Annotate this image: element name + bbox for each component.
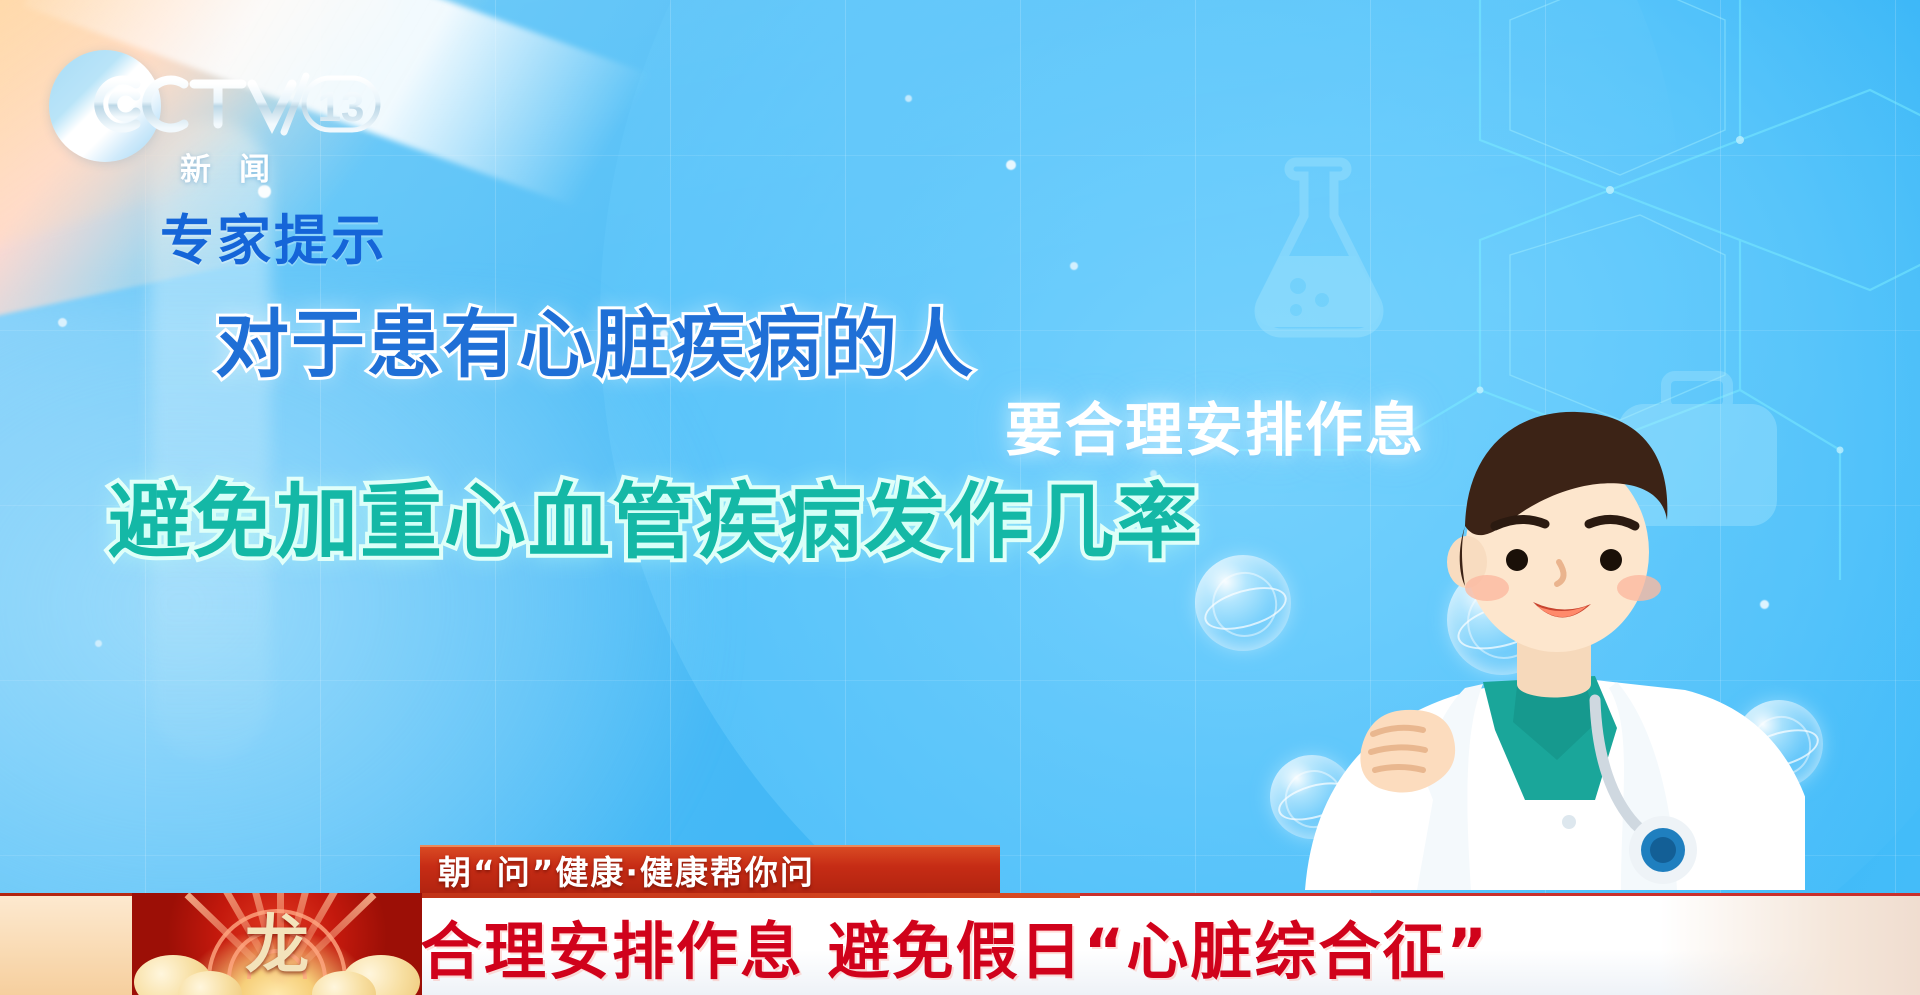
flask-icon	[1238, 150, 1398, 340]
festive-glyph: 龙	[245, 894, 309, 986]
cctv-logo: 13 新闻	[52, 48, 382, 183]
headline-bar-left-cap	[0, 896, 132, 995]
decor-dot	[95, 640, 102, 647]
headline-bar-right-fade	[1660, 896, 1920, 995]
expert-tip-label: 专家提示	[160, 196, 388, 275]
program-strip: 朝“问”健康·健康帮你问	[420, 845, 1000, 893]
decor-dot	[905, 95, 912, 102]
cctv-channel-number: 13	[318, 83, 365, 130]
overlay-line-3: 避免加重心血管疾病发作几率	[108, 455, 1200, 574]
decor-dot	[1006, 160, 1016, 170]
decor-dot	[1070, 262, 1078, 270]
overlay-line-1: 对于患有心脏疾病的人	[215, 285, 975, 392]
broadcast-screen: 13 新闻 专家提示 对于患有心脏疾病的人 要合理安排作息 避免加重心血管疾病发…	[0, 0, 1920, 995]
cctv-wordmark-icon: 13	[92, 68, 382, 140]
program-strip-text: 朝“问”健康·健康帮你问	[438, 846, 815, 894]
festive-decoration: 龙	[132, 893, 422, 995]
headline-text: 合理安排作息 避免假日“心脏综合征”	[420, 901, 1489, 991]
cctv-logo-subtitle: 新闻	[180, 144, 380, 189]
decor-dot	[58, 318, 67, 327]
